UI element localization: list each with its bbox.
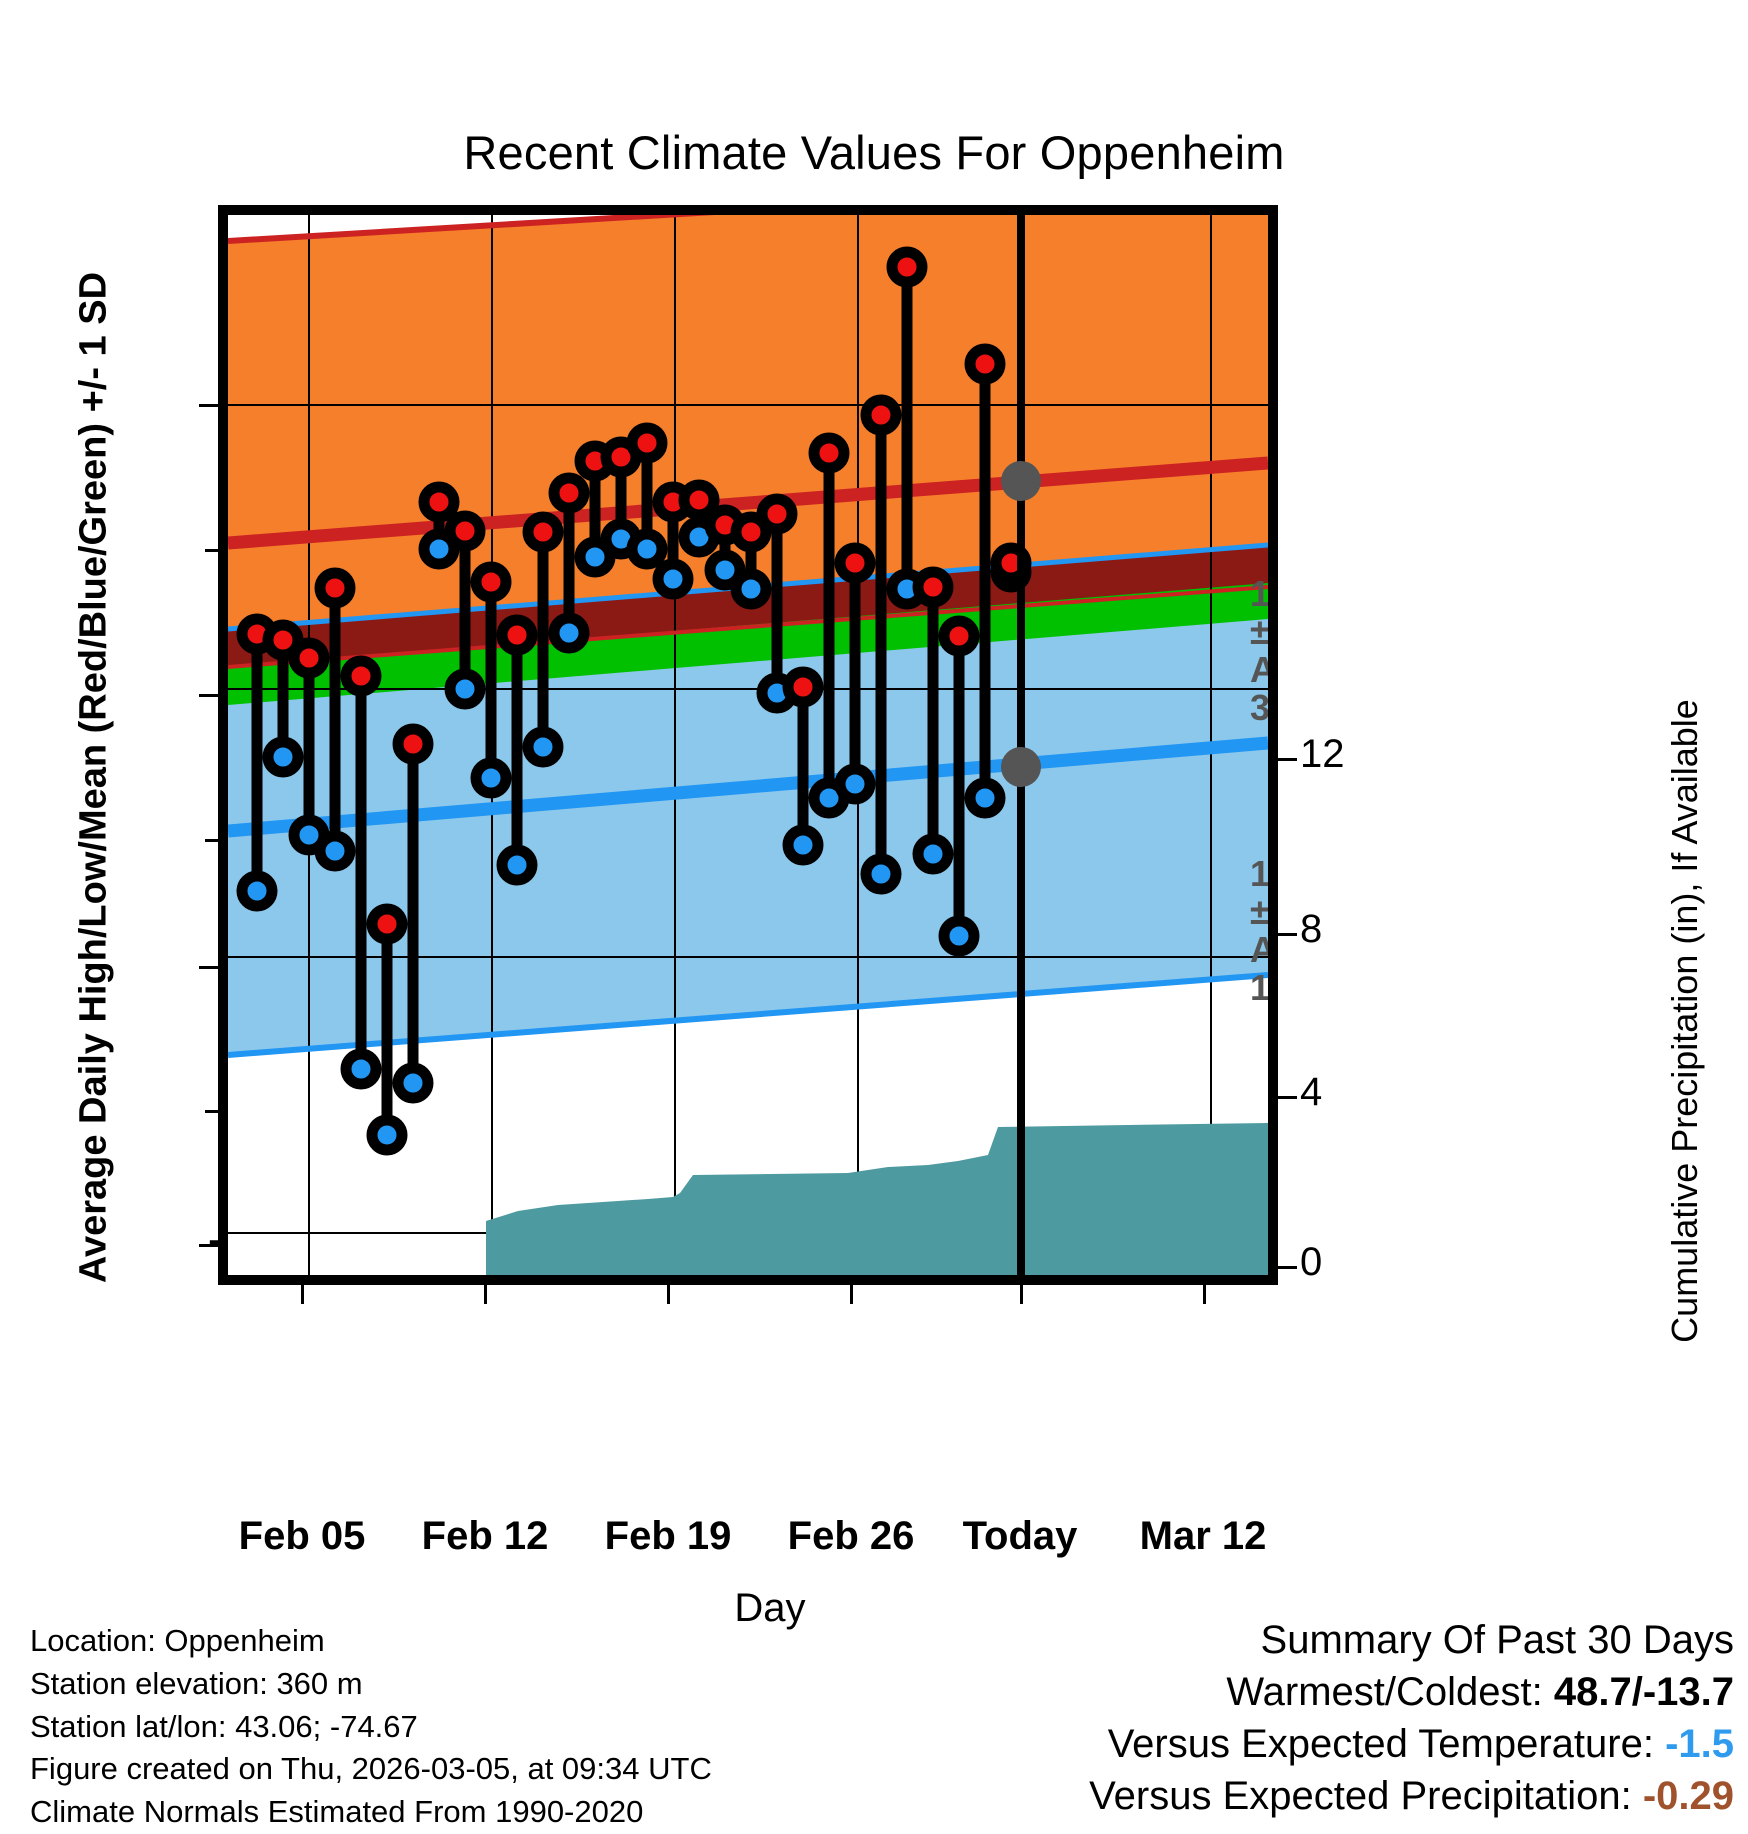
y-tick-mark-right-8	[1278, 933, 1297, 936]
metadata-location: Location: Oppenheim	[30, 1620, 712, 1663]
warmest-coldest-value: 48.7/-13.7	[1554, 1670, 1734, 1714]
y-axis-right-title: Cumulative Precipitation (in), If Availa…	[1664, 471, 1706, 1571]
high-avg-label: Avg:	[1250, 651, 1278, 689]
y-tick-mark-left-20	[199, 694, 218, 697]
high-normals-annotation: 1 SD: ±11.1°F Avg: 36.7°F	[1250, 575, 1278, 728]
low-sd-label: 1 SD:	[1250, 855, 1278, 893]
today-low-avg-marker	[1001, 747, 1041, 787]
x-tick-mark-feb-05	[301, 1285, 304, 1304]
y-tick-mark-right-12	[1278, 758, 1297, 761]
high-sd-label: 1 SD:	[1250, 575, 1278, 613]
metadata-latlon: Station lat/lon: 43.06; -74.67	[30, 1706, 712, 1749]
y-tick-mark-left-neg20	[199, 1244, 218, 1247]
metadata-normals: Climate Normals Estimated From 1990-2020	[30, 1791, 712, 1834]
y-tick-mark-right-0	[1278, 1266, 1297, 1269]
plot-canvas	[228, 215, 1268, 1275]
x-tick-mark-feb-19	[667, 1285, 670, 1304]
summary-panel: Summary Of Past 30 Days Warmest/Coldest:…	[1089, 1614, 1734, 1822]
summary-warmest-coldest: Warmest/Coldest: 48.7/-13.7	[1089, 1666, 1734, 1718]
y-tick-mark-left-0	[199, 966, 218, 969]
y-tick-mark-left-minor-neg10	[205, 1110, 218, 1113]
high-avg-value: 36.7°F	[1250, 689, 1278, 727]
today-high-avg-marker	[1001, 461, 1041, 501]
y-tick-right-4: 4	[1300, 1070, 1420, 1115]
warmest-coldest-label: Warmest/Coldest:	[1226, 1670, 1542, 1714]
precipitation-area	[486, 1123, 1268, 1275]
station-metadata: Location: Oppenheim Station elevation: 3…	[30, 1620, 712, 1834]
y-tick-mark-right-4	[1278, 1096, 1297, 1099]
summary-vs-precipitation: Versus Expected Precipitation: -0.29	[1089, 1770, 1734, 1822]
y-tick-right-8: 8	[1300, 907, 1420, 952]
x-tick-mark-mar-12	[1203, 1285, 1206, 1304]
high-sd-value: ±11.1°F	[1250, 613, 1278, 651]
low-avg-value: 16.3°F	[1250, 969, 1278, 1007]
vs-temp-label: Versus Expected Temperature:	[1108, 1722, 1654, 1766]
summary-heading: Summary Of Past 30 Days	[1089, 1614, 1734, 1666]
low-sd-value: ±12.1°F	[1250, 893, 1278, 931]
y-tick-mark-left-minor-30	[205, 549, 218, 552]
vs-prcp-value: -0.29	[1643, 1774, 1734, 1818]
metadata-elevation: Station elevation: 360 m	[30, 1663, 712, 1706]
y-tick-mark-left-minor-10	[205, 839, 218, 842]
vs-prcp-label: Versus Expected Precipitation:	[1089, 1774, 1632, 1818]
x-tick-mark-today	[1020, 1285, 1023, 1304]
vs-temp-value: -1.5	[1665, 1722, 1734, 1766]
climate-plot[interactable]: 1 SD: ±11.1°F Avg: 36.7°F 1 SD: ±12.1°F …	[218, 205, 1278, 1285]
metadata-created: Figure created on Thu, 2026-03-05, at 09…	[30, 1748, 712, 1791]
x-tick-mark-feb-12	[484, 1285, 487, 1304]
y-tick-mark-left-40	[199, 404, 218, 407]
x-tick-mark-feb-26	[850, 1285, 853, 1304]
page-title: Recent Climate Values For Oppenheim	[0, 125, 1748, 180]
y-tick-right-12: 12	[1300, 732, 1420, 777]
low-normals-annotation: 1 SD: ±12.1°F Avg: 16.3°F	[1250, 855, 1278, 1008]
summary-vs-temperature: Versus Expected Temperature: -1.5	[1089, 1718, 1734, 1770]
x-tick-mar-12: Mar 12	[1073, 1514, 1333, 1559]
y-tick-right-0: 0	[1300, 1240, 1420, 1285]
low-avg-label: Avg:	[1250, 931, 1278, 969]
